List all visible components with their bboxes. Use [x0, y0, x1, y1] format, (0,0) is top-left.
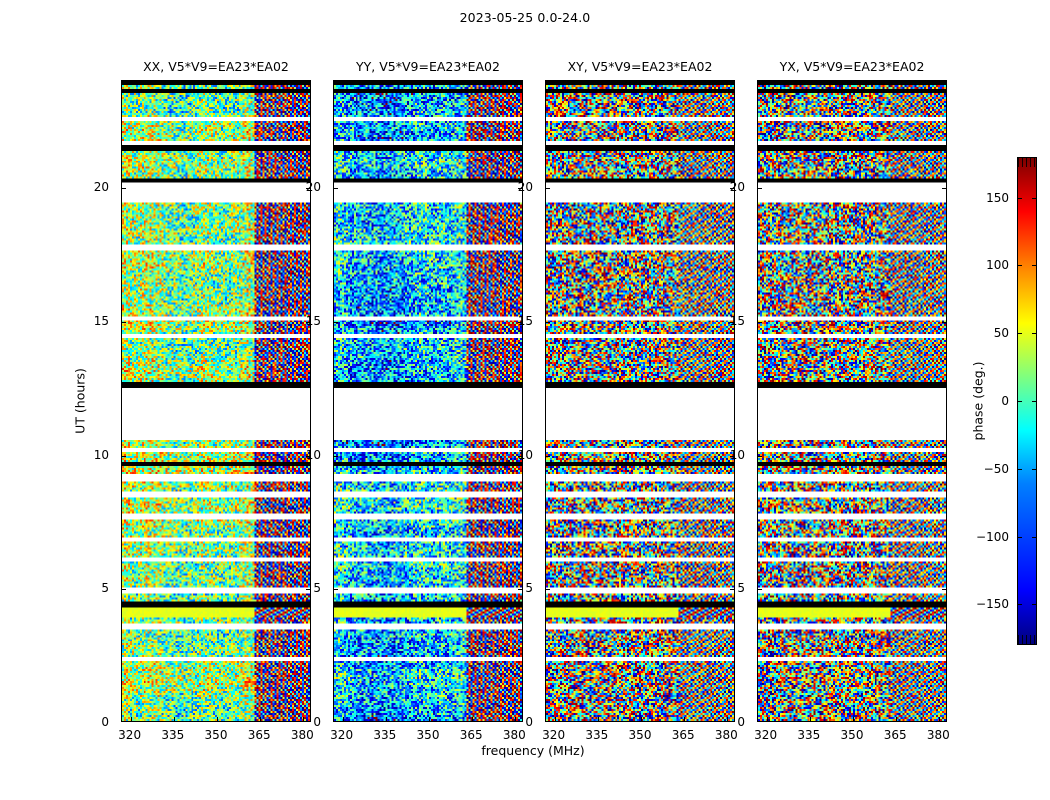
xtick-label: 365 — [672, 728, 695, 742]
ytick-mark — [758, 322, 762, 323]
colorbar-tick-label: 50 — [994, 326, 1009, 340]
ytick-label: 15 — [730, 314, 745, 328]
colorbar-tick-mark — [1017, 333, 1022, 334]
xtick-label: 320 — [542, 728, 565, 742]
ytick-label: 5 — [525, 581, 533, 595]
xtick-label: 335 — [373, 728, 396, 742]
xtick-label: 350 — [417, 728, 440, 742]
ytick-mark — [942, 322, 946, 323]
panel-xx-image — [122, 81, 310, 721]
figure-suptitle: 2023-05-25 0.0-24.0 — [0, 10, 1050, 25]
ytick-mark — [942, 456, 946, 457]
xtick-mark — [684, 717, 685, 721]
colorbar-tick-mark — [1017, 537, 1022, 538]
xtick-mark — [598, 717, 599, 721]
panel-xx-title: XX, V5*V9=EA23*EA02 — [143, 59, 289, 74]
xtick-mark — [810, 717, 811, 721]
panel-xy-title: XY, V5*V9=EA23*EA02 — [568, 59, 713, 74]
ytick-mark — [334, 322, 338, 323]
xtick-label: 380 — [715, 728, 738, 742]
panel-yx-title: YX, V5*V9=EA23*EA02 — [780, 59, 925, 74]
xtick-label: 335 — [161, 728, 184, 742]
colorbar-label: phase (deg.) — [971, 362, 986, 441]
panel-yy[interactable] — [333, 80, 523, 722]
xtick-label: 365 — [460, 728, 483, 742]
xtick-mark — [555, 717, 556, 721]
ytick-mark — [122, 589, 126, 590]
ytick-label: 5 — [313, 581, 321, 595]
panel-yx[interactable] — [757, 80, 947, 722]
ytick-label: 0 — [101, 715, 109, 729]
xtick-mark — [429, 717, 430, 721]
xtick-mark — [810, 81, 811, 85]
xtick-mark — [598, 81, 599, 85]
yaxis-ticks-panel-yy: 05101520 — [295, 80, 329, 722]
ytick-label: 10 — [306, 448, 321, 462]
colorbar-tick-mark — [1032, 333, 1037, 334]
ytick-label: 5 — [737, 581, 745, 595]
colorbar-tick-mark — [1032, 469, 1037, 470]
figure-canvas: 2023-05-25 0.0-24.0 XX, V5*V9=EA23*EA02 … — [0, 0, 1050, 800]
xtick-label: 350 — [841, 728, 864, 742]
xtick-label: 350 — [629, 728, 652, 742]
ytick-mark — [122, 188, 126, 189]
xtick-label: 320 — [118, 728, 141, 742]
ytick-label: 20 — [306, 180, 321, 194]
ytick-mark — [334, 589, 338, 590]
colorbar-tick-mark — [1017, 265, 1022, 266]
colorbar-tick-mark — [1017, 469, 1022, 470]
xtick-mark — [343, 717, 344, 721]
xtick-mark — [684, 81, 685, 85]
colorbar-tick-mark — [1017, 604, 1022, 605]
xtick-mark — [641, 81, 642, 85]
xtick-label: 365 — [884, 728, 907, 742]
xtick-mark — [217, 81, 218, 85]
ytick-mark — [546, 322, 550, 323]
xtick-mark — [429, 81, 430, 85]
colorbar-tick-mark — [1032, 537, 1037, 538]
xtick-mark — [472, 81, 473, 85]
colorbar-tick-mark — [1032, 604, 1037, 605]
panel-yx-image — [758, 81, 946, 721]
xtick-mark — [939, 717, 940, 721]
colorbar-tick-label: −100 — [976, 530, 1009, 544]
panel-yy-title: YY, V5*V9=EA23*EA02 — [356, 59, 500, 74]
ytick-label: 10 — [94, 448, 109, 462]
xtick-mark — [260, 81, 261, 85]
xaxis-label: frequency (MHz) — [0, 743, 1050, 758]
colorbar-under-range — [1018, 635, 1036, 644]
xtick-mark — [217, 717, 218, 721]
colorbar-tick-label: 0 — [1001, 394, 1009, 408]
xtick-mark — [386, 81, 387, 85]
xtick-label: 350 — [205, 728, 228, 742]
colorbar-tick-mark — [1017, 198, 1022, 199]
xtick-mark — [174, 717, 175, 721]
xtick-mark — [896, 717, 897, 721]
xtick-mark — [386, 717, 387, 721]
panel-xy[interactable] — [545, 80, 735, 722]
yaxis-ticks-panel-xy: 05101520 — [507, 80, 541, 722]
colorbar-tick-mark — [1032, 401, 1037, 402]
ytick-mark — [122, 456, 126, 457]
ytick-label: 0 — [737, 715, 745, 729]
xtick-label: 380 — [503, 728, 526, 742]
panel-yy-image — [334, 81, 522, 721]
xtick-mark — [174, 81, 175, 85]
ytick-mark — [942, 188, 946, 189]
colorbar-tick-label: −150 — [976, 597, 1009, 611]
xtick-mark — [343, 81, 344, 85]
xtick-mark — [896, 81, 897, 85]
xtick-label: 335 — [797, 728, 820, 742]
ytick-mark — [758, 188, 762, 189]
ytick-mark — [546, 188, 550, 189]
ytick-label: 15 — [94, 314, 109, 328]
yaxis-ticks-panel-xx: 05101520 — [83, 80, 117, 722]
ytick-mark — [334, 456, 338, 457]
ytick-mark — [546, 589, 550, 590]
colorbar-tick-mark — [1032, 265, 1037, 266]
xtick-label: 335 — [585, 728, 608, 742]
xtick-mark — [767, 81, 768, 85]
ytick-label: 10 — [730, 448, 745, 462]
xtick-mark — [555, 81, 556, 85]
xtick-label: 320 — [754, 728, 777, 742]
ytick-label: 5 — [101, 581, 109, 595]
colorbar-over-range — [1018, 158, 1036, 167]
colorbar-tick-label: −50 — [984, 462, 1009, 476]
ytick-label: 0 — [525, 715, 533, 729]
ytick-label: 15 — [306, 314, 321, 328]
xtick-mark — [131, 81, 132, 85]
xtick-mark — [131, 717, 132, 721]
ytick-mark — [942, 589, 946, 590]
ytick-mark — [758, 456, 762, 457]
colorbar-tick-label: 150 — [986, 191, 1009, 205]
ytick-label: 20 — [518, 180, 533, 194]
xtick-mark — [939, 81, 940, 85]
ytick-label: 10 — [518, 448, 533, 462]
colorbar-tick-label: 100 — [986, 258, 1009, 272]
xtick-label: 365 — [248, 728, 271, 742]
xtick-mark — [472, 717, 473, 721]
xtick-mark — [767, 717, 768, 721]
xtick-mark — [853, 717, 854, 721]
xtick-mark — [260, 717, 261, 721]
colorbar-tick-mark — [1032, 198, 1037, 199]
xtick-mark — [853, 81, 854, 85]
xtick-mark — [641, 717, 642, 721]
panel-xx[interactable] — [121, 80, 311, 722]
ytick-mark — [122, 322, 126, 323]
ytick-label: 0 — [313, 715, 321, 729]
colorbar-tick-mark — [1017, 401, 1022, 402]
ytick-label: 20 — [730, 180, 745, 194]
ytick-label: 15 — [518, 314, 533, 328]
yaxis-label: UT (hours) — [73, 368, 88, 434]
ytick-label: 20 — [94, 180, 109, 194]
xtick-label: 380 — [927, 728, 950, 742]
xtick-label: 320 — [330, 728, 353, 742]
ytick-mark — [334, 188, 338, 189]
xaxis-label-text: frequency (MHz) — [0, 743, 1050, 758]
panel-xy-image — [546, 81, 734, 721]
ytick-mark — [546, 456, 550, 457]
ytick-mark — [758, 589, 762, 590]
xtick-label: 380 — [291, 728, 314, 742]
yaxis-ticks-panel-yx: 05101520 — [719, 80, 753, 722]
